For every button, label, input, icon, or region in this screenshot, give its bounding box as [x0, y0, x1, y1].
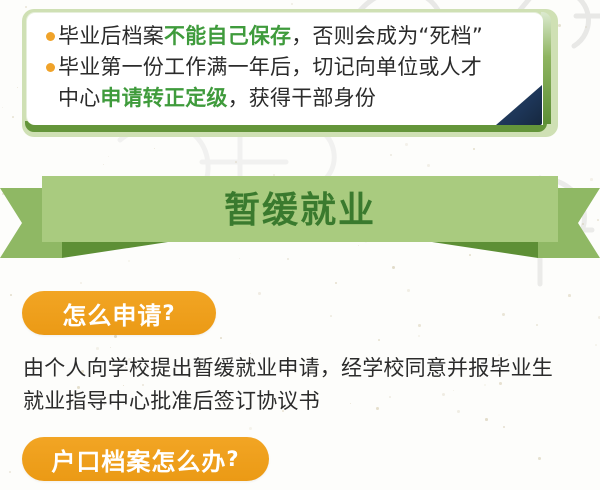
note-card: 毕业后档案不能自己保存，否则会成为“死档” 毕业第一份工作满一年后，切记向单位或…	[22, 9, 558, 137]
heading-text: 户口档案怎么办	[51, 442, 226, 477]
list-item: 毕业后档案不能自己保存，否则会成为“死档”	[46, 21, 550, 52]
bullet-text: 毕业后档案	[58, 24, 164, 48]
bullet-text: ，否则会成为“死档”	[291, 24, 483, 48]
bullet-dot-icon	[46, 32, 55, 41]
bullet-text: 毕业第一份工作满一年后，切记向单位或人才	[58, 52, 550, 83]
banner-title: 暂缓就业	[224, 190, 376, 231]
bullet-highlight: 不能自己保存	[164, 24, 291, 48]
list-item-continuation: 中心申请转正定级，获得干部身份	[46, 83, 550, 114]
list-item: 毕业第一份工作满一年后，切记向单位或人才	[46, 52, 550, 83]
heading-question-mark: ?	[162, 301, 175, 325]
heading-how-to-apply[interactable]: 怎么申请?	[22, 291, 216, 335]
section-banner: 暂缓就业	[0, 160, 600, 264]
heading-question-mark: ?	[226, 447, 239, 471]
heading-text: 怎么申请	[62, 296, 162, 331]
answer-how-to-apply: 由个人向学校提出暂缓就业申请，经学校同意并报毕业生就业指导中心批准后签订协议书	[23, 352, 568, 418]
bullet-text: ，获得干部身份	[228, 86, 376, 110]
heading-hukou-archive[interactable]: 户口档案怎么办?	[22, 437, 269, 481]
bullet-highlight: 申请转正定级	[100, 86, 227, 110]
bullet-dot-icon	[46, 63, 55, 72]
bullet-text: 中心	[58, 86, 100, 110]
card-bullet-list: 毕业后档案不能自己保存，否则会成为“死档” 毕业第一份工作满一年后，切记向单位或…	[46, 21, 550, 114]
